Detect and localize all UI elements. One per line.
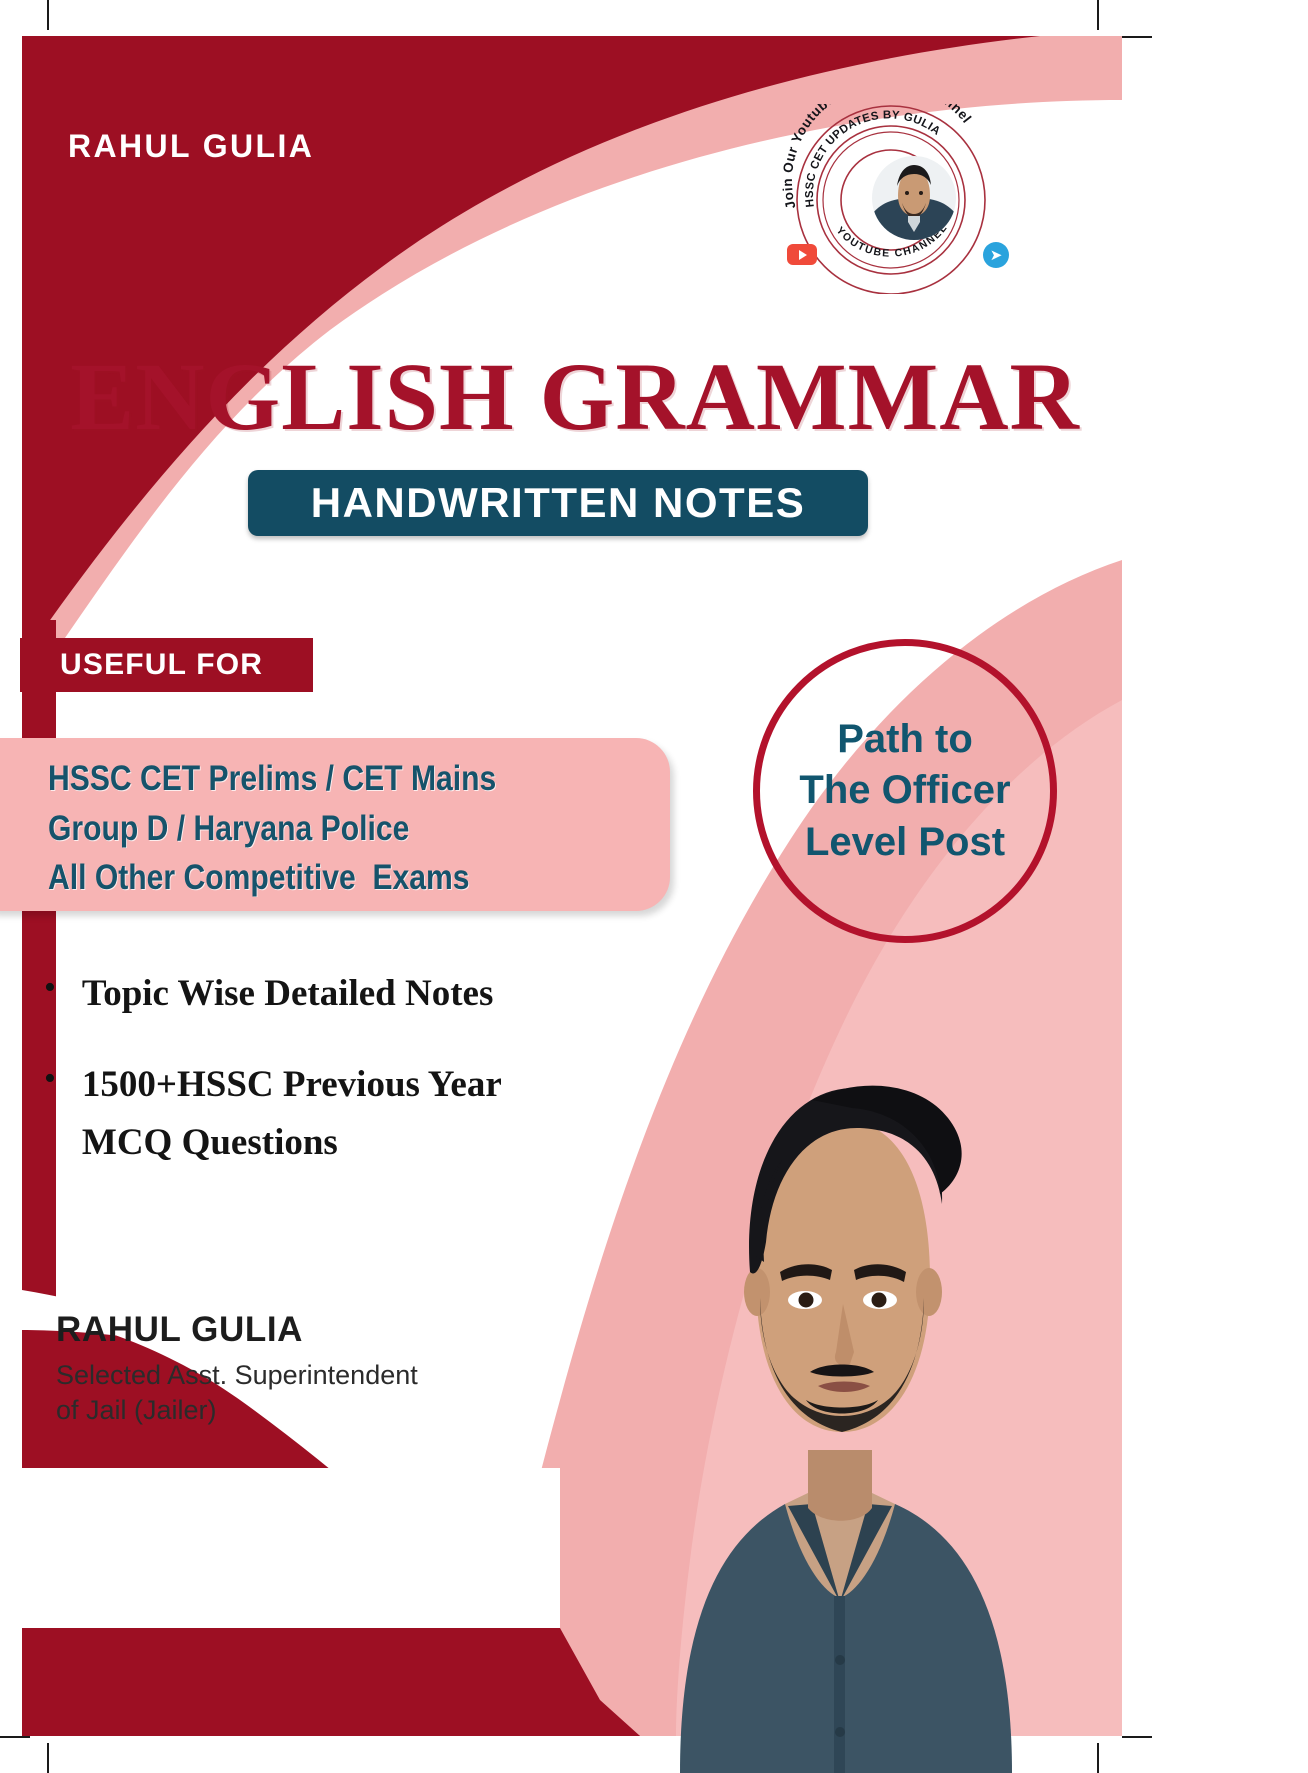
- exam-item: Group D / Haryana Police: [48, 804, 583, 854]
- feature-list: • Topic Wise Detailed Notes • 1500+HSSC …: [44, 965, 564, 1205]
- exam-item: All Other Competitive Exams: [48, 853, 583, 903]
- channel-seal-badge[interactable]: Join Our Youtube & Telegram Channel HSSC…: [779, 104, 1019, 294]
- book-cover: RAHUL GULIA Join Our Youtube & Telegram …: [0, 0, 1308, 1773]
- feature-item: • 1500+HSSC Previous Year MCQ Questions: [44, 1056, 564, 1171]
- feature-text: 1500+HSSC Previous Year MCQ Questions: [82, 1056, 502, 1171]
- exam-list-box: HSSC CET Prelims / CET Mains Group D / H…: [0, 738, 670, 911]
- author-role-line1: Selected Asst. Superintendent: [56, 1360, 418, 1390]
- page-title: ENGLISH GRAMMAR: [0, 347, 1150, 448]
- officer-line-1: Path to: [837, 714, 973, 765]
- officer-badge: Path to The Officer Level Post: [753, 639, 1057, 943]
- author-credit-block: RAHUL GULIA Selected Asst. Superintenden…: [56, 1310, 526, 1428]
- author-role: Selected Asst. Superintendent of Jail (J…: [56, 1358, 526, 1428]
- crop-mark-bl-v: [47, 1743, 49, 1773]
- crop-mark-left-h: [0, 1736, 30, 1738]
- exam-item: HSSC CET Prelims / CET Mains: [48, 754, 583, 804]
- feature-text: Topic Wise Detailed Notes: [82, 965, 493, 1022]
- feature-text-line1: 1500+HSSC Previous Year: [82, 1064, 502, 1105]
- crop-mark-tl-v: [47, 0, 49, 30]
- header-author-name: RAHUL GULIA: [68, 128, 314, 165]
- subtitle-text: HANDWRITTEN NOTES: [311, 479, 805, 527]
- author-name: RAHUL GULIA: [56, 1310, 526, 1350]
- officer-line-2: The Officer: [799, 765, 1010, 816]
- author-role-line2: of Jail (Jailer): [56, 1395, 217, 1425]
- subtitle-banner: HANDWRITTEN NOTES: [248, 470, 868, 536]
- crop-mark-tr-v: [1097, 0, 1099, 30]
- bullet-icon: •: [44, 971, 56, 1005]
- bullet-icon: •: [44, 1062, 56, 1096]
- feature-text-line2: MCQ Questions: [82, 1122, 338, 1163]
- feature-item: • Topic Wise Detailed Notes: [44, 965, 564, 1022]
- officer-line-3: Level Post: [805, 817, 1005, 868]
- youtube-icon[interactable]: [787, 244, 817, 265]
- crop-mark-tr-h: [1122, 36, 1152, 38]
- telegram-icon[interactable]: ➤: [983, 242, 1009, 268]
- badge-portrait: [872, 156, 956, 240]
- bottom-red-strip: [22, 1628, 640, 1736]
- exam-list: HSSC CET Prelims / CET Mains Group D / H…: [0, 738, 670, 903]
- author-portrait: [560, 980, 1120, 1773]
- useful-for-tag: USEFUL FOR: [20, 638, 313, 692]
- useful-for-label: USEFUL FOR: [60, 648, 263, 682]
- crop-mark-right-h: [1122, 1736, 1152, 1738]
